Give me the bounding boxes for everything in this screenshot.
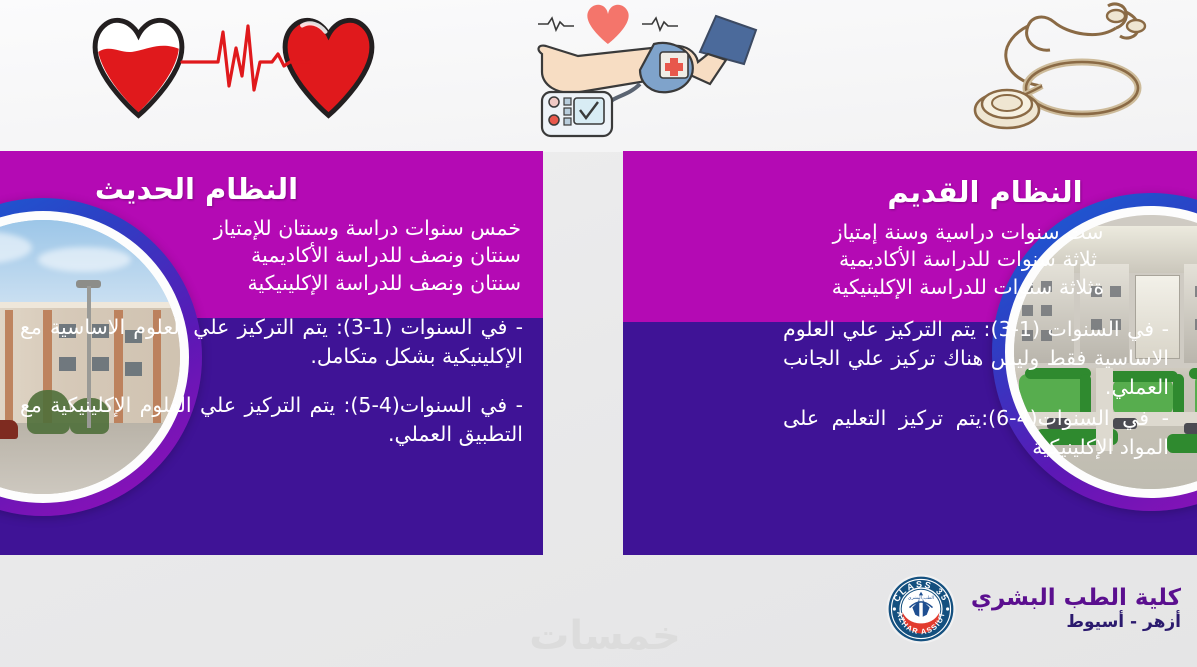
brand-faculty-name: كلية الطب البشري [971, 586, 1181, 612]
panel-old-title: النظام القديم [773, 175, 1197, 209]
panel-modern-subtitle: خمس سنوات دراسة وسنتان للإمتياز سنتان ون… [18, 215, 521, 297]
hero-illustration-row [0, 0, 1197, 152]
two-hearts-with-ecg-icon [86, 4, 416, 124]
blood-pressure-monitor-icon [520, 0, 762, 140]
panel-modern-subtitle-line-2: سنتان ونصف للدراسة الأكاديمية [18, 242, 521, 269]
logo-badge-icon: الطب البشري CLASS 35 AZHAR ASSIUT [885, 573, 957, 645]
panel-modern-paragraph-2: - في السنوات(4-5): يتم التركيز علي العلو… [20, 391, 523, 449]
panel-old-subtitle: ست سنوات دراسية وسنة إمتياز ثلاثة سنوات … [773, 219, 1163, 301]
panel-modern-subtitle-line-1: خمس سنوات دراسة وسنتان للإمتياز [18, 215, 521, 242]
panel-old-subtitle-line-3: ةثلاثة سنوات للدراسة الإكلينيكية [773, 274, 1163, 301]
brand-block: الطب البشري CLASS 35 AZHAR ASSIUT كلية ا… [885, 573, 1181, 645]
footer: خمسات الطب [0, 555, 1197, 667]
stethoscope-icon [958, 0, 1197, 148]
panel-modern-body-text: - في السنوات (1-3): يتم التركيز علي العل… [20, 313, 523, 449]
panel-old-paragraph-1: - في السنوات (1-3): يتم التركيز علي العل… [783, 315, 1169, 402]
brand-text: كلية الطب البشري أزهر - أسيوط [971, 586, 1181, 633]
panel-old-subtitle-line-1: ست سنوات دراسية وسنة إمتياز [773, 219, 1163, 246]
panel-modern-subtitle-line-3: سنتان ونصف للدراسة الإكلينيكية [18, 270, 521, 297]
panel-old-paragraph-2: - في السنوات(4-6):يتم تركيز التعليم على … [783, 404, 1169, 462]
slide-canvas: النظام الحديث خمس سنوات دراسة وسنتان للإ… [0, 0, 1197, 667]
panel-old-subtitle-line-2: ثلاثة سنوات للدراسة الأكاديمية [773, 246, 1163, 273]
panel-modern-title: النظام الحديث [0, 172, 393, 206]
svg-text:الطب البشري: الطب البشري [908, 596, 934, 601]
panel-modern-paragraph-1: - في السنوات (1-3): يتم التركيز علي العل… [20, 313, 523, 371]
brand-location: أزهر - أسيوط [971, 613, 1181, 632]
watermark-khamsat: خمسات [455, 613, 755, 659]
panel-old-body-text: - في السنوات (1-3): يتم التركيز علي العل… [783, 315, 1169, 463]
class-35-azhar-assiut-logo: الطب البشري CLASS 35 AZHAR ASSIUT [885, 573, 957, 645]
